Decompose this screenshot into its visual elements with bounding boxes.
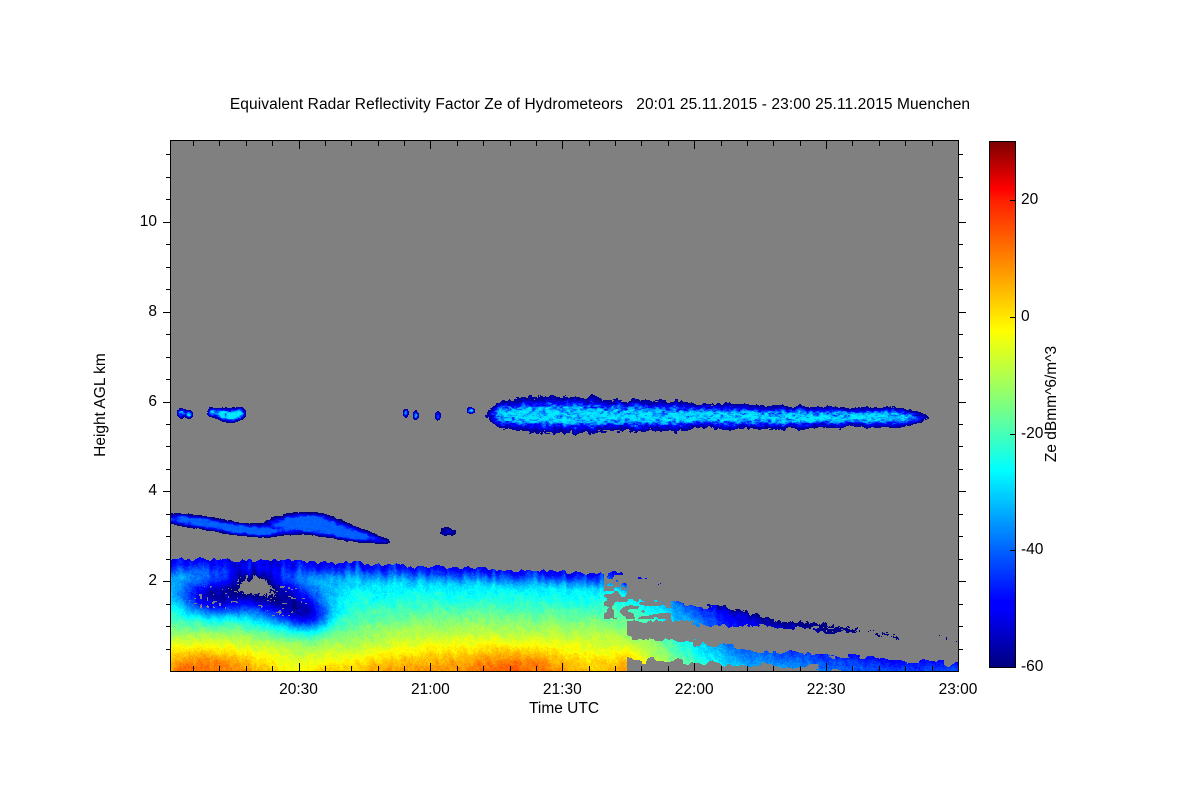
y-tick-minor-right xyxy=(958,424,963,425)
y-tick-minor xyxy=(166,244,171,245)
y-tick-minor xyxy=(166,357,171,358)
x-tick-minor-top xyxy=(932,141,933,146)
y-tick-minor-right xyxy=(958,177,963,178)
y-tick-minor-right xyxy=(958,559,963,560)
x-tick-minor xyxy=(747,666,748,671)
colorbar-tick-20 xyxy=(1010,200,1015,201)
x-tick-minor-top xyxy=(747,141,748,146)
x-tick-minor-top xyxy=(219,141,220,146)
x-tick-minor xyxy=(641,666,642,671)
colorbar-tick-label--40: -40 xyxy=(1021,541,1043,559)
x-tick-major-2 xyxy=(562,663,563,671)
y-axis-title: Height AGL km xyxy=(92,353,110,457)
y-tick-major-6 xyxy=(163,402,171,403)
x-tick-label-4: 22:30 xyxy=(807,681,846,699)
y-tick-minor-right xyxy=(958,536,963,537)
y-tick-minor-right xyxy=(958,154,963,155)
x-tick-minor xyxy=(721,666,722,671)
x-tick-minor xyxy=(483,666,484,671)
x-tick-major-top-2 xyxy=(562,141,563,149)
x-tick-minor-top xyxy=(773,141,774,146)
colorbar-tick-label-0: 0 xyxy=(1021,308,1030,326)
y-tick-major-10 xyxy=(163,222,171,223)
x-tick-label-2: 21:30 xyxy=(543,681,582,699)
y-tick-minor-right xyxy=(958,244,963,245)
colorbar-tick-label--20: -20 xyxy=(1021,425,1043,443)
y-tick-minor-right xyxy=(958,379,963,380)
y-tick-minor xyxy=(166,536,171,537)
colorbar-tick--20 xyxy=(1010,434,1015,435)
x-tick-minor-top xyxy=(404,141,405,146)
x-tick-minor xyxy=(351,666,352,671)
y-tick-minor xyxy=(166,177,171,178)
x-tick-minor xyxy=(589,666,590,671)
x-tick-major-top-3 xyxy=(694,141,695,149)
x-tick-major-1 xyxy=(430,663,431,671)
x-tick-major-0 xyxy=(299,663,300,671)
x-tick-major-4 xyxy=(826,663,827,671)
y-tick-major-right-10 xyxy=(958,222,966,223)
y-tick-major-right-8 xyxy=(958,312,966,313)
y-tick-minor xyxy=(166,267,171,268)
x-tick-minor xyxy=(272,666,273,671)
y-tick-minor-right xyxy=(958,267,963,268)
y-tick-label-2: 2 xyxy=(0,572,157,590)
y-tick-minor-right xyxy=(958,446,963,447)
y-tick-minor xyxy=(166,199,171,200)
x-tick-major-top-0 xyxy=(299,141,300,149)
x-tick-major-5 xyxy=(958,663,959,671)
y-tick-major-4 xyxy=(163,491,171,492)
y-tick-minor-right xyxy=(958,469,963,470)
x-tick-minor-top xyxy=(351,141,352,146)
x-tick-minor-top xyxy=(905,141,906,146)
x-tick-minor-top xyxy=(879,141,880,146)
x-tick-minor xyxy=(193,666,194,671)
y-tick-major-2 xyxy=(163,581,171,582)
y-tick-minor-right xyxy=(958,289,963,290)
x-tick-minor xyxy=(879,666,880,671)
colorbar-tick-label--60: -60 xyxy=(1021,658,1043,676)
y-tick-major-8 xyxy=(163,312,171,313)
y-tick-minor xyxy=(166,559,171,560)
y-tick-minor-right xyxy=(958,334,963,335)
colorbar-tick-label-20: 20 xyxy=(1021,191,1038,209)
x-tick-minor-top xyxy=(483,141,484,146)
y-tick-major-right-4 xyxy=(958,491,966,492)
y-tick-major-right-6 xyxy=(958,402,966,403)
x-tick-minor xyxy=(536,666,537,671)
y-tick-minor xyxy=(166,379,171,380)
x-tick-minor xyxy=(852,666,853,671)
x-tick-minor-top xyxy=(589,141,590,146)
x-tick-minor-top xyxy=(668,141,669,146)
y-tick-minor-right xyxy=(958,199,963,200)
x-tick-minor xyxy=(246,666,247,671)
y-tick-minor xyxy=(166,424,171,425)
x-tick-minor xyxy=(800,666,801,671)
x-tick-minor-top xyxy=(193,141,194,146)
x-tick-label-5: 23:00 xyxy=(939,681,978,699)
x-tick-minor-top xyxy=(325,141,326,146)
y-tick-minor-right xyxy=(958,514,963,515)
x-tick-minor xyxy=(457,666,458,671)
x-tick-label-3: 22:00 xyxy=(675,681,714,699)
x-tick-minor-top xyxy=(721,141,722,146)
y-tick-minor xyxy=(166,469,171,470)
y-tick-label-10: 10 xyxy=(0,213,157,231)
y-tick-major-right-2 xyxy=(958,581,966,582)
y-tick-label-4: 4 xyxy=(0,482,157,500)
y-tick-minor xyxy=(166,446,171,447)
colorbar-gradient xyxy=(990,142,1015,667)
x-tick-minor xyxy=(219,666,220,671)
x-tick-major-top-5 xyxy=(958,141,959,149)
figure-title: Equivalent Radar Reflectivity Factor Ze … xyxy=(0,96,1200,114)
y-tick-label-8: 8 xyxy=(0,303,157,321)
x-tick-minor xyxy=(932,666,933,671)
x-tick-minor xyxy=(905,666,906,671)
colorbar-tick--40 xyxy=(1010,550,1015,551)
y-tick-minor xyxy=(166,154,171,155)
x-tick-minor-top xyxy=(615,141,616,146)
y-tick-minor-right xyxy=(958,649,963,650)
x-tick-minor xyxy=(510,666,511,671)
x-tick-label-0: 20:30 xyxy=(279,681,318,699)
x-tick-minor-top xyxy=(378,141,379,146)
x-tick-minor-top xyxy=(457,141,458,146)
x-tick-major-top-1 xyxy=(430,141,431,149)
x-tick-label-1: 21:00 xyxy=(411,681,450,699)
x-tick-minor xyxy=(325,666,326,671)
x-tick-minor xyxy=(668,666,669,671)
y-tick-minor-right xyxy=(958,357,963,358)
x-tick-minor-top xyxy=(641,141,642,146)
x-tick-minor xyxy=(378,666,379,671)
x-tick-minor-top xyxy=(272,141,273,146)
x-tick-minor xyxy=(404,666,405,671)
y-tick-minor-right xyxy=(958,604,963,605)
x-tick-minor-top xyxy=(510,141,511,146)
x-axis-title: Time UTC xyxy=(529,700,599,718)
x-tick-minor-top xyxy=(246,141,247,146)
y-tick-minor xyxy=(166,289,171,290)
x-tick-major-top-4 xyxy=(826,141,827,149)
y-tick-minor xyxy=(166,514,171,515)
y-tick-minor-right xyxy=(958,626,963,627)
colorbar-tick-0 xyxy=(1010,317,1015,318)
colorbar-tick--60 xyxy=(1010,667,1015,668)
y-tick-minor xyxy=(166,649,171,650)
x-tick-major-3 xyxy=(694,663,695,671)
y-tick-minor xyxy=(166,334,171,335)
x-tick-minor-top xyxy=(800,141,801,146)
reflectivity-heatmap-canvas xyxy=(171,141,958,671)
y-tick-minor xyxy=(166,604,171,605)
y-tick-label-6: 6 xyxy=(0,393,157,411)
colorbar-title: Ze dBmm^6/m^3 xyxy=(1043,346,1061,462)
x-tick-minor xyxy=(773,666,774,671)
x-tick-minor xyxy=(615,666,616,671)
x-tick-minor-top xyxy=(536,141,537,146)
y-tick-minor xyxy=(166,626,171,627)
radar-reflectivity-figure: Equivalent Radar Reflectivity Factor Ze … xyxy=(0,0,1200,800)
x-tick-minor-top xyxy=(852,141,853,146)
